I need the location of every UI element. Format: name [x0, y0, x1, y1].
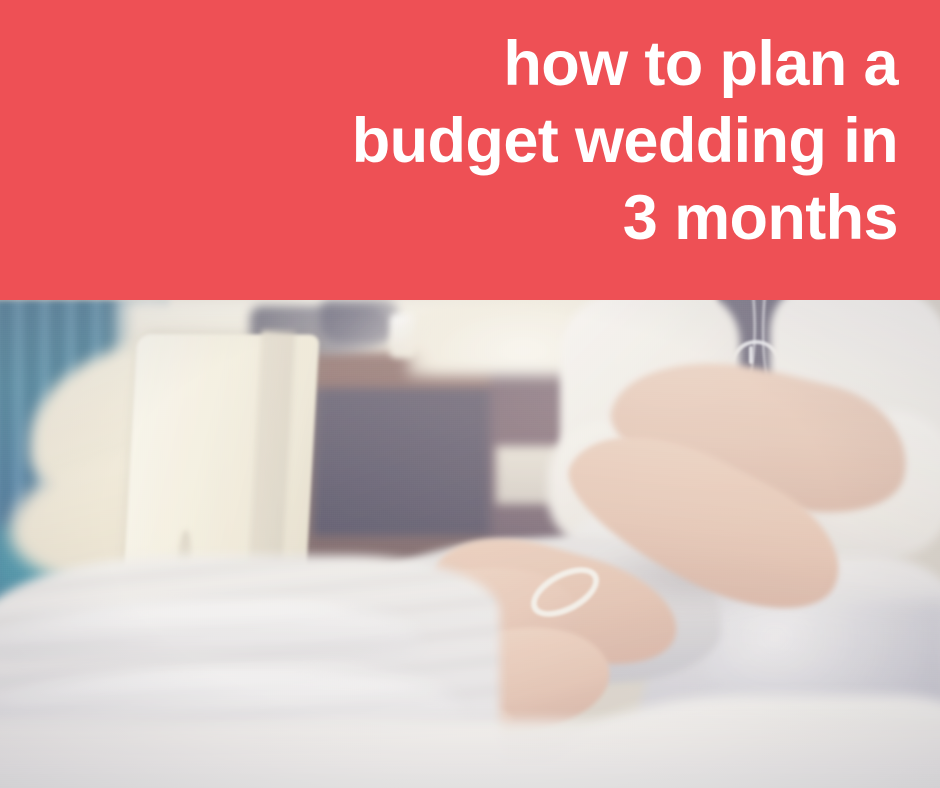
- headline-line-1: how to plan a: [338, 26, 898, 103]
- headline-line-2: budget wedding in: [338, 103, 898, 180]
- headline-text: how to plan a budget wedding in 3 months: [338, 26, 898, 257]
- photo-grain: [0, 300, 940, 788]
- headline-banner: how to plan a budget wedding in 3 months: [0, 0, 940, 300]
- headline-line-3: 3 months: [338, 180, 898, 257]
- photo-woman-on-bed-with-laptop: [0, 300, 940, 788]
- pin-graphic: how to plan a budget wedding in 3 months: [0, 0, 940, 788]
